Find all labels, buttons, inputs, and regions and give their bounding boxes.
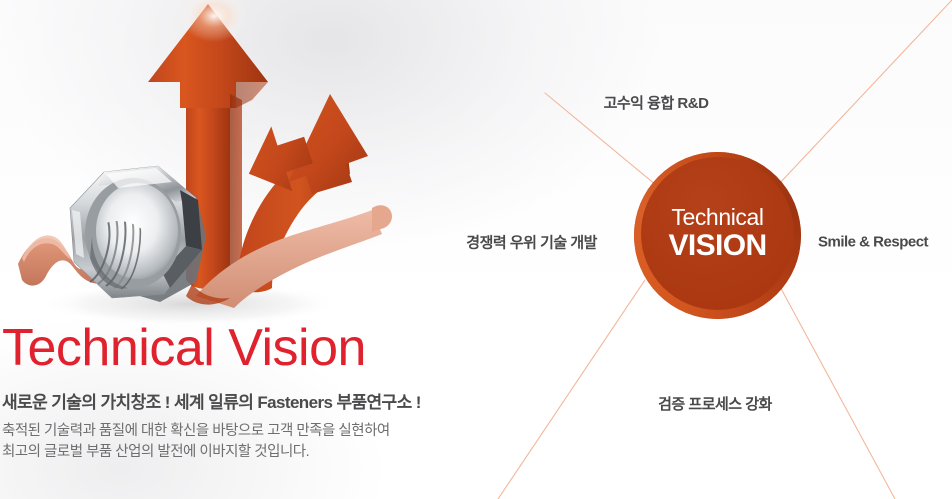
headline-block: Technical Vision 새로운 기술의 가치창조 ! 세계 일류의 F… bbox=[2, 322, 462, 463]
tagline-secondary: 축적된 기술력과 품질에 대한 확신을 바탕으로 고객 만족을 실현하여 최고의… bbox=[2, 421, 462, 463]
hex-nut-with-rising-arrows-illustration bbox=[0, 0, 420, 336]
hex-nut bbox=[70, 166, 206, 302]
diagram-node-left: 경쟁력 우위 기술 개발 bbox=[466, 232, 597, 253]
ray-line-bottom-right bbox=[778, 283, 895, 499]
diagram-node-bottom: 검증 프로세스 강화 bbox=[658, 393, 772, 414]
technical-vision-banner: Technical Vision 새로운 기술의 가치창조 ! 세계 일류의 F… bbox=[0, 0, 952, 499]
arrow-tall-head-facet bbox=[236, 82, 268, 108]
vision-circle-core: Technical VISION bbox=[641, 157, 794, 310]
vision-label-technical: Technical bbox=[671, 206, 763, 229]
vision-diagram: Technical VISION 고수익 융합 R&D Smile & Resp… bbox=[440, 0, 952, 499]
diagram-node-right: Smile & Respect bbox=[818, 234, 928, 251]
vision-label-vision: VISION bbox=[668, 231, 766, 261]
tagline-secondary-line-1: 축적된 기술력과 품질에 대한 확신을 바탕으로 고객 만족을 실현하여 bbox=[2, 421, 462, 442]
page-title: Technical Vision bbox=[2, 322, 462, 374]
ray-line-bottom-left bbox=[498, 280, 645, 499]
nut-bore-inner bbox=[96, 183, 178, 279]
tagline-secondary-line-2: 최고의 글로벌 부품 산업의 발전에 이바지할 것입니다. bbox=[2, 442, 462, 463]
tagline-primary: 새로운 기술의 가치창조 ! 세계 일류의 Fasteners 부품연구소 ! bbox=[2, 388, 462, 413]
arrow-tall-side-facet bbox=[230, 94, 242, 284]
diagram-node-top: 고수익 융합 R&D bbox=[604, 92, 709, 113]
ray-line-top-right bbox=[778, 0, 952, 185]
vision-circle: Technical VISION bbox=[634, 152, 801, 319]
pale-ribbon-right-edge bbox=[372, 205, 392, 232]
